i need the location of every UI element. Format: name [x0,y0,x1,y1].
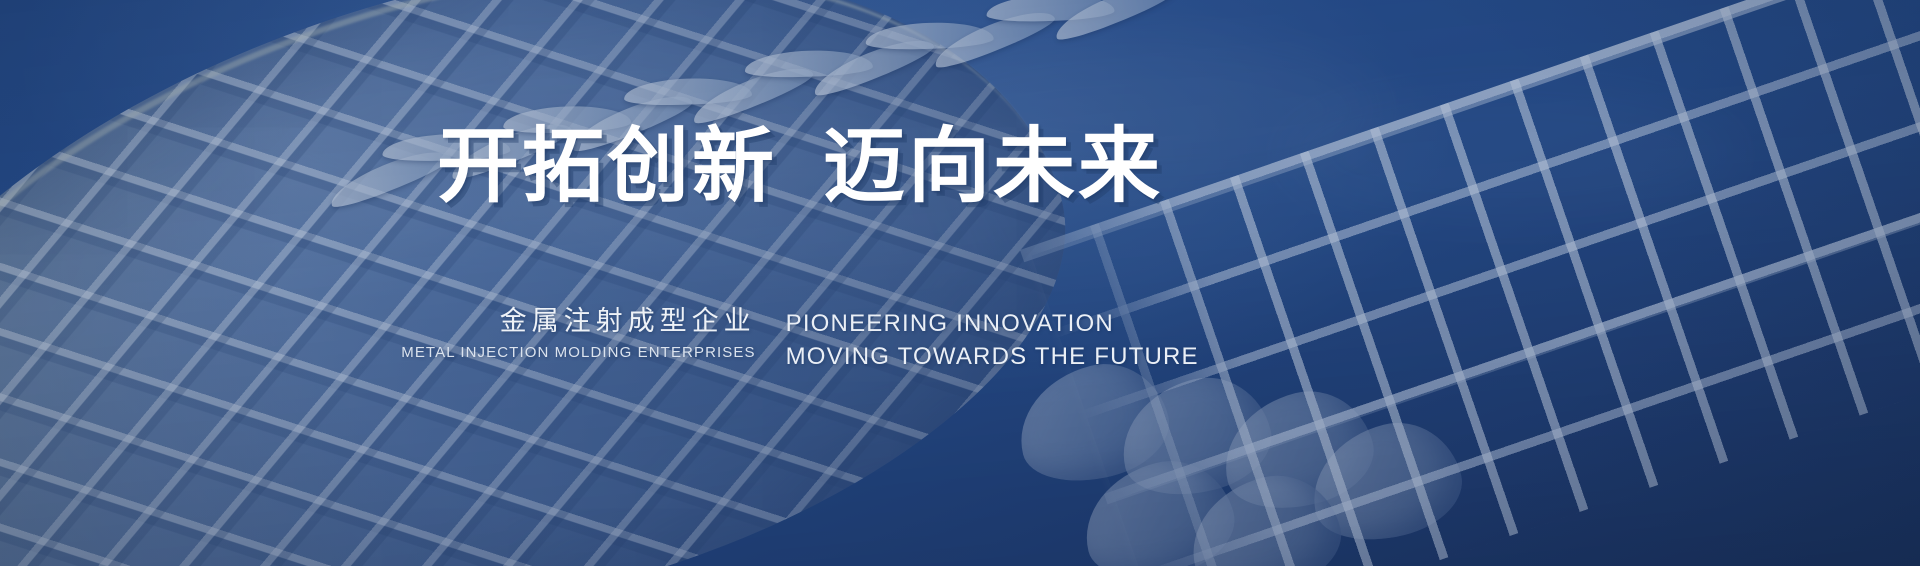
subtitle-chinese-translation: METAL INJECTION MOLDING ENTERPRISES [401,344,755,361]
subtitle-row: 金属注射成型企业 METAL INJECTION MOLDING ENTERPR… [0,305,1600,373]
headline: 开拓创新迈向未来 [0,126,1600,208]
subtitle-chinese: 金属注射成型企业 [401,305,755,339]
headline-part-1: 开拓创新 [437,121,777,212]
tagline-line-2: MOVING TOWARDS THE FUTURE [786,340,1199,373]
hero-banner: 开拓创新迈向未来 金属注射成型企业 METAL INJECTION MOLDIN… [0,0,1920,566]
subtitle-chinese-block: 金属注射成型企业 METAL INJECTION MOLDING ENTERPR… [401,305,755,361]
tagline-block: PIONEERING INNOVATION MOVING TOWARDS THE… [786,305,1199,373]
headline-part-2: 迈向未来 [823,121,1163,212]
tagline-line-1: PIONEERING INNOVATION [786,307,1199,340]
banner-copy: 开拓创新迈向未来 金属注射成型企业 METAL INJECTION MOLDIN… [0,0,1920,566]
